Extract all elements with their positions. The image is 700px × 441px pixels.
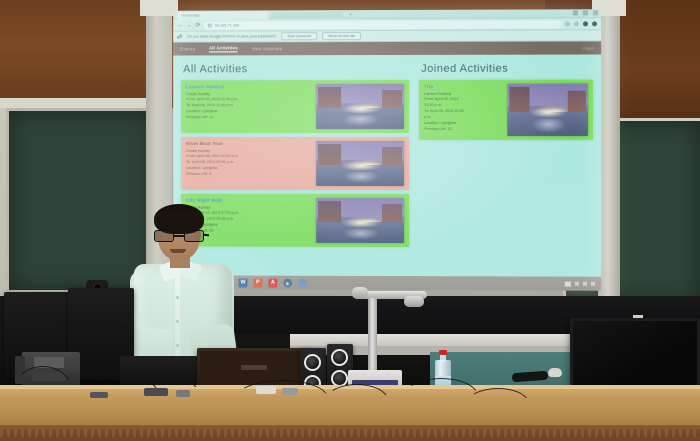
document-camera-joint <box>352 287 368 299</box>
tray-volume-icon[interactable] <box>575 282 579 286</box>
joined-activity-title: Trip <box>424 84 502 89</box>
activity-thumbnail <box>316 198 404 243</box>
forward-icon[interactable]: → <box>186 22 192 28</box>
word-icon[interactable] <box>239 278 248 287</box>
joined-activity-meta: Trip Lantern Festival From: April 05, 20… <box>424 84 502 136</box>
tray-network-icon[interactable] <box>565 281 571 286</box>
desk-item <box>282 388 298 395</box>
activity-title: River Boat Tour <box>186 141 311 146</box>
browser-toolbar: ← → ⟳ 10.135.71.200 <box>173 18 601 31</box>
all-activities-heading: All Activities <box>183 63 409 75</box>
thumbnail-building-left <box>318 144 341 167</box>
blue-app-icon[interactable] <box>298 278 307 287</box>
joined-activity-thumbnail <box>507 84 588 136</box>
joined-activity-line: Persons Left: 12 <box>424 127 502 133</box>
thumbnail-lights <box>341 104 381 114</box>
thumbnail-building-right <box>568 91 586 114</box>
save-password-button[interactable]: Save password <box>281 32 317 40</box>
activity-thumbnail <box>316 141 404 186</box>
glasses-bridge <box>174 235 184 237</box>
speaker-driver <box>331 349 348 366</box>
minimize-icon[interactable] <box>573 10 578 15</box>
back-icon[interactable]: ← <box>177 22 183 28</box>
tray-battery-icon[interactable] <box>583 282 587 286</box>
activity-meta: Lantern Festival Create Activity From: A… <box>186 84 311 129</box>
never-for-this-site-button[interactable]: Never for this site <box>322 32 361 40</box>
shirt-button <box>176 320 179 323</box>
thumbnail-lights <box>341 218 381 228</box>
thumbnail-lights <box>530 107 567 119</box>
thumbnail-building-right <box>382 147 401 167</box>
thumbnail-building-right <box>382 204 401 224</box>
thumbnail-building-left <box>318 201 341 224</box>
close-icon[interactable] <box>593 10 598 15</box>
browser-tab-title: All Activities <box>177 11 268 17</box>
tray-clock-icon[interactable] <box>591 282 595 286</box>
activity-line: Persons Left: 5 <box>186 172 311 178</box>
desk-front-panel <box>0 425 700 441</box>
media-icon[interactable] <box>283 278 292 287</box>
activity-title: City Night Walk <box>186 198 311 203</box>
thumbnail-lights <box>341 161 381 171</box>
desk-item <box>144 388 168 396</box>
activity-card[interactable]: River Boat Tour Create Activity From: Ap… <box>181 137 409 190</box>
thumbnail-reflection <box>343 115 380 127</box>
bookmark-star-icon[interactable] <box>565 21 570 26</box>
thumbnail-reflection <box>532 119 566 133</box>
profile-icon[interactable] <box>583 21 588 26</box>
presenter-mouth <box>170 249 186 253</box>
document-camera-column <box>368 298 377 372</box>
television-brand-badge <box>633 315 643 318</box>
desk-item <box>90 392 108 398</box>
toolbar-right-icons <box>565 21 597 26</box>
joined-activities-column: Joined Activities Trip Lantern Festival … <box>419 61 593 291</box>
system-tray[interactable] <box>565 281 595 286</box>
extension-icon[interactable] <box>574 21 579 26</box>
document-camera-button[interactable] <box>386 373 390 377</box>
laptop-logo <box>241 365 267 370</box>
shirt-button <box>176 344 179 347</box>
key-icon <box>177 34 182 40</box>
page-info-icon <box>208 23 212 27</box>
glasses-icon <box>153 230 205 243</box>
app-brand[interactable]: Events <box>180 47 195 52</box>
wall-pillar-right <box>598 0 620 300</box>
activity-thumbnail <box>316 84 404 129</box>
speaker-driver <box>304 354 321 371</box>
document-camera-button[interactable] <box>362 373 366 377</box>
thumbnail-building-left <box>318 87 341 110</box>
window-controls[interactable] <box>573 10 598 15</box>
activity-line: Persons Left: 12 <box>186 115 311 121</box>
glasses-lens-right <box>184 230 204 242</box>
pdf-icon[interactable] <box>268 278 277 287</box>
address-bar-url: 10.135.71.200 <box>215 23 240 27</box>
address-bar[interactable]: 10.135.71.200 <box>204 20 562 29</box>
document-camera-head <box>404 296 424 307</box>
thumbnail-building-right <box>382 90 401 110</box>
joined-activity-card[interactable]: Trip Lantern Festival From: April 05, 20… <box>419 80 593 140</box>
computer-mouse[interactable] <box>548 368 562 377</box>
thumbnail-reflection <box>343 229 380 241</box>
joined-activities-heading: Joined Activities <box>421 63 593 75</box>
ppt-icon[interactable] <box>253 278 262 287</box>
activity-title: Lantern Festival <box>186 84 311 89</box>
nav-item-logout[interactable]: Logout <box>582 46 594 50</box>
nav-item-all-activities[interactable]: All Activities <box>209 45 238 52</box>
menu-icon[interactable] <box>592 21 597 26</box>
password-bar-message: Do you want Google Chrome to save your p… <box>187 34 276 38</box>
app-navbar: Events All Activities Your Activities Lo… <box>173 41 601 55</box>
activity-meta: River Boat Tour Create Activity From: Ap… <box>186 141 311 186</box>
bottle-cap <box>439 350 447 355</box>
thumbnail-building-left <box>509 87 530 114</box>
bottle-neck <box>440 354 446 362</box>
desk-item <box>256 386 276 394</box>
thumbnail-reflection <box>343 172 380 184</box>
glasses-lens-left <box>154 230 174 242</box>
new-tab-icon[interactable]: + <box>346 12 355 19</box>
document-camera-button[interactable] <box>354 373 358 377</box>
nav-item-your-activities[interactable]: Your Activities <box>252 46 282 51</box>
desk-item <box>176 390 190 397</box>
activity-card[interactable]: Lantern Festival Create Activity From: A… <box>181 80 409 133</box>
maximize-icon[interactable] <box>583 10 588 15</box>
left-wall-trim <box>0 98 160 108</box>
reload-icon[interactable]: ⟳ <box>195 22 201 28</box>
lecture-hall-scene: All Activities + ← → ⟳ 10.135.71.200 <box>0 0 700 441</box>
shirt-button <box>176 296 179 299</box>
